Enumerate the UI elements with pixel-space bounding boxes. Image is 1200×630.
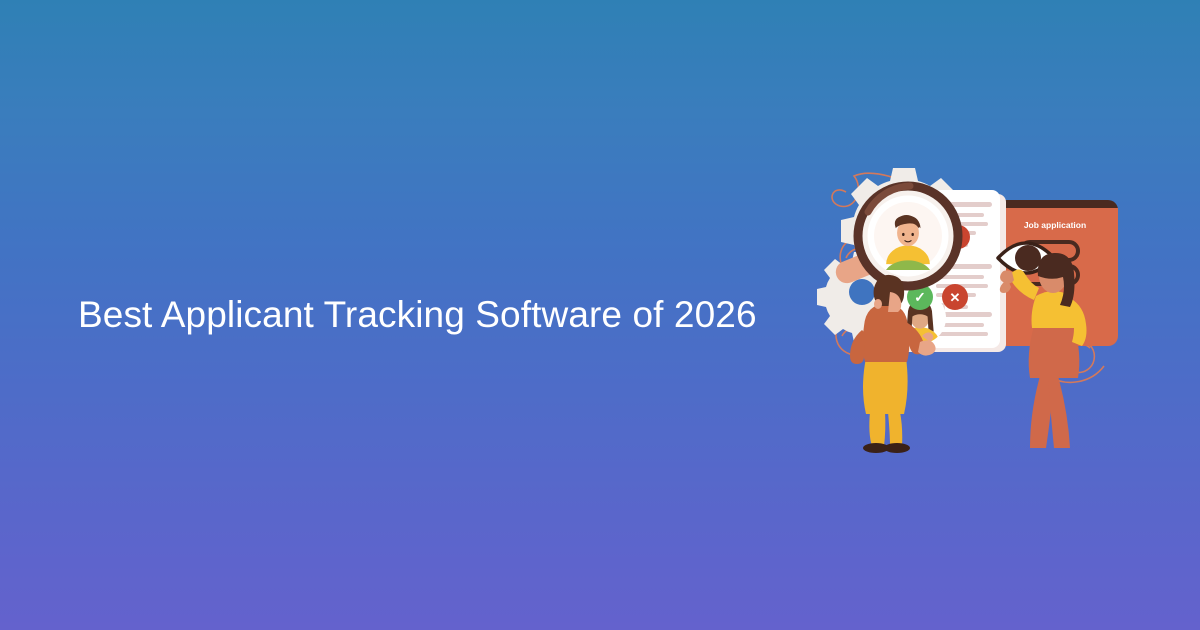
svg-text:✓: ✓ [914,289,926,305]
page-title: Best Applicant Tracking Software of 2026 [78,292,757,338]
headline-container: Best Applicant Tracking Software of 2026 [78,0,778,630]
recruiter-woman [1000,253,1087,448]
applicant-tracking-illustration: Job application [812,140,1132,460]
candidate-avatar-1 [858,186,958,286]
hero-banner: Best Applicant Tracking Software of 2026 [0,0,1200,630]
folder-label: Job application [1024,220,1086,230]
reject-x-badge-2: ✕ [942,284,968,310]
svg-text:✕: ✕ [950,290,961,305]
